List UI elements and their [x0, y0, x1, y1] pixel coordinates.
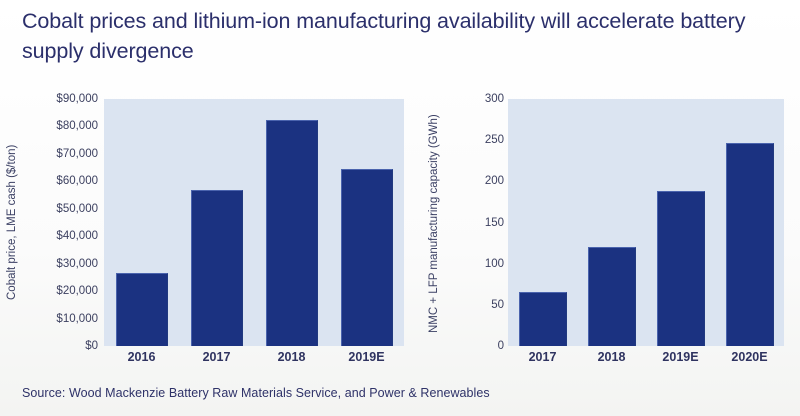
left-y-tick-label: $60,000 [56, 175, 98, 187]
x-tick-label: 2019E [646, 350, 715, 364]
right-y-axis-title: NMC + LFP manufacturing capacity (GWh) [428, 90, 462, 358]
right-x-axis-ticks: 201720182019E2020E [508, 350, 784, 364]
left-y-axis-ticks: $90,000$80,000$70,000$60,000$50,000$40,0… [38, 88, 104, 368]
left-y-tick-label: $0 [85, 340, 98, 352]
right-y-tick-label: 50 [491, 299, 504, 311]
bar [519, 292, 567, 346]
bar-column [508, 99, 577, 346]
bar-column [577, 99, 646, 346]
left-y-tick-label: $90,000 [56, 93, 98, 105]
page-title: Cobalt prices and lithium-ion manufactur… [22, 6, 782, 66]
left-y-tick-label: $40,000 [56, 230, 98, 242]
bar [116, 273, 168, 346]
slide-canvas: Cobalt prices and lithium-ion manufactur… [0, 0, 800, 416]
x-tick-label: 2017 [508, 350, 577, 364]
left-y-tick-label: $80,000 [56, 120, 98, 132]
right-y-tick-label: 100 [485, 258, 504, 270]
right-y-tick-label: 300 [485, 93, 504, 105]
bar [341, 169, 393, 346]
right-y-axis-ticks: 300250200150100500 [462, 88, 510, 368]
right-bar-group [508, 99, 784, 346]
bar-column [646, 99, 715, 346]
left-y-tick-label: $50,000 [56, 203, 98, 215]
bar [191, 190, 243, 346]
x-tick-label: 2017 [179, 350, 254, 364]
bar-column [329, 99, 404, 346]
x-tick-label: 2019E [329, 350, 404, 364]
left-bar-group [104, 99, 404, 346]
manufacturing-capacity-chart: NMC + LFP manufacturing capacity (GWh) 3… [420, 88, 800, 368]
bar [657, 191, 705, 346]
x-tick-label: 2018 [577, 350, 646, 364]
left-x-axis-ticks: 2016201720182019E [104, 350, 404, 364]
right-y-tick-label: 150 [485, 217, 504, 229]
source-note: Source: Wood Mackenzie Battery Raw Mater… [22, 386, 490, 400]
x-tick-label: 2016 [104, 350, 179, 364]
bar-column [254, 99, 329, 346]
bar-column [179, 99, 254, 346]
bar [588, 247, 636, 346]
left-y-tick-label: $30,000 [56, 258, 98, 270]
cobalt-price-chart: Cobalt price, LME cash ($/ton) $90,000$8… [0, 88, 420, 368]
right-y-tick-label: 250 [485, 134, 504, 146]
x-tick-label: 2018 [254, 350, 329, 364]
left-y-tick-label: $10,000 [56, 313, 98, 325]
left-y-axis-title: Cobalt price, LME cash ($/ton) [6, 94, 36, 350]
right-y-tick-label: 0 [498, 340, 504, 352]
x-tick-label: 2020E [715, 350, 784, 364]
bar [726, 143, 774, 346]
left-y-tick-label: $20,000 [56, 285, 98, 297]
right-y-tick-label: 200 [485, 175, 504, 187]
left-plot-area [104, 99, 404, 346]
bar-column [104, 99, 179, 346]
right-plot-area [508, 99, 784, 346]
bar [266, 120, 318, 346]
left-y-tick-label: $70,000 [56, 148, 98, 160]
bar-column [715, 99, 784, 346]
